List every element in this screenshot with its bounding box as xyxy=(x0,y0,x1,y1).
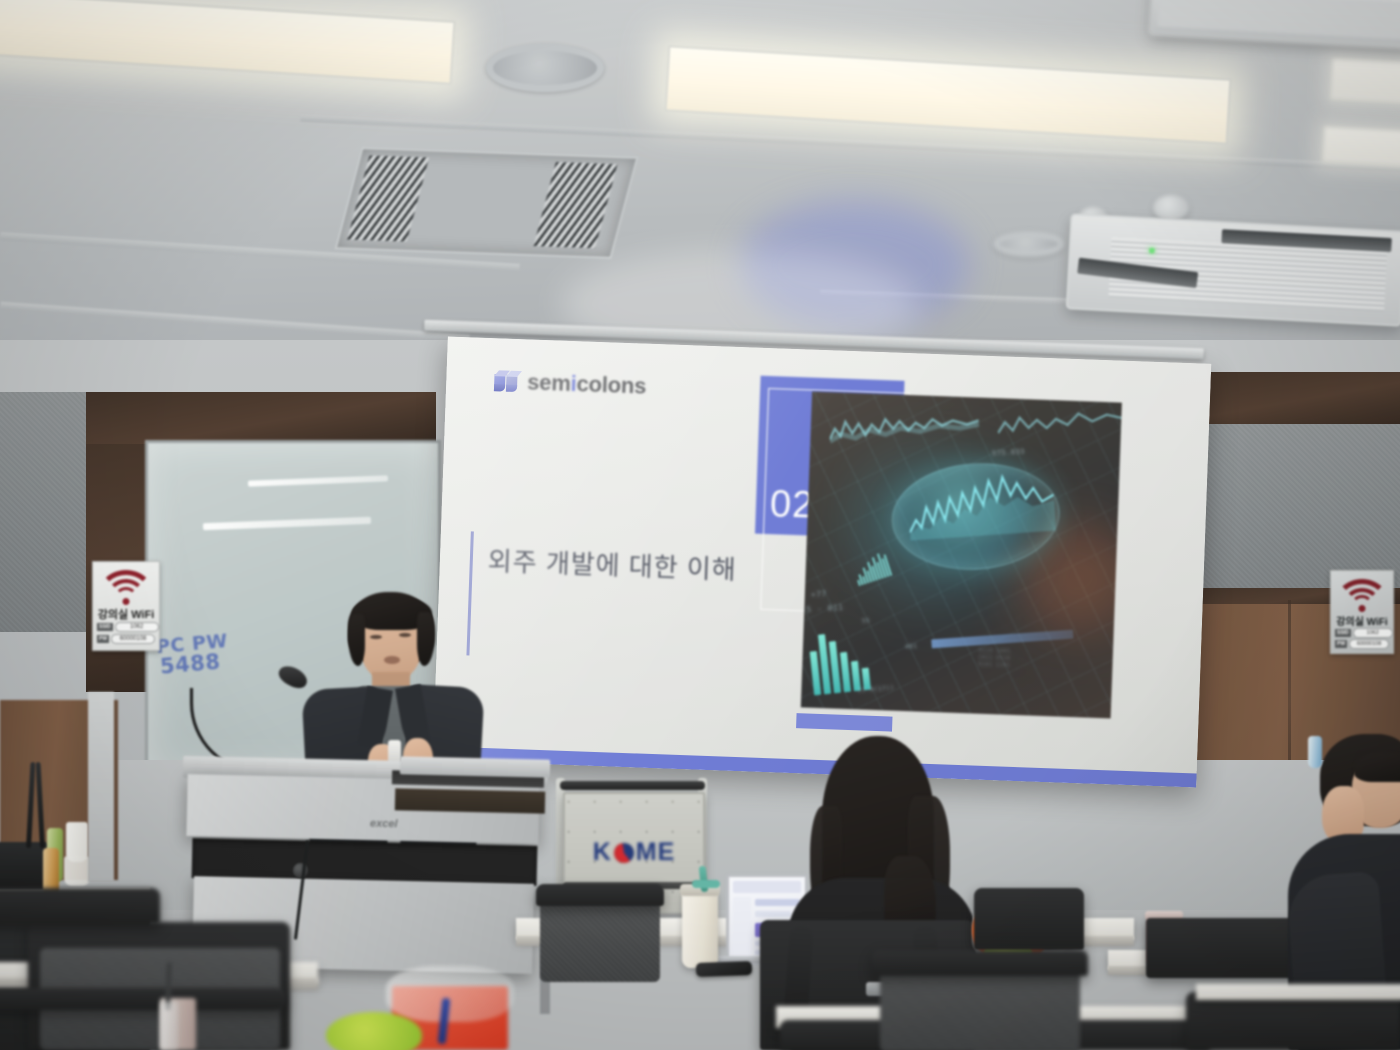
presenter-mouth xyxy=(384,656,400,664)
wifi-sign-right-row-ssid: SSID 1062 xyxy=(1335,628,1393,638)
presenter-sideburn-right xyxy=(417,612,435,666)
presenter-eye-left xyxy=(370,635,382,639)
slide-projection-sheen xyxy=(433,336,1212,787)
sanitizer-bottle xyxy=(1308,736,1322,768)
smartphone xyxy=(696,961,752,977)
laptop-sidebar xyxy=(733,897,751,957)
desk-foreground-far-right xyxy=(1196,984,1400,1000)
led-panel-light-3 xyxy=(1329,57,1400,107)
right-attendee-hair-front xyxy=(1354,752,1400,782)
taeguk-icon xyxy=(614,843,634,863)
wifi-ssid-value: 1062 xyxy=(115,622,159,632)
chair-foreground-left-arm xyxy=(0,988,286,1010)
led-panel-light-4 xyxy=(1321,125,1400,169)
wifi-ssid-tag: SSID xyxy=(97,623,113,631)
lectern-brand-label: excel xyxy=(370,818,398,831)
ceiling-speaker-2-icon xyxy=(993,231,1065,257)
left-wall-wood-header xyxy=(86,392,436,444)
wifi-ssid-value-right: 1062 xyxy=(1353,628,1393,638)
side-table-panel xyxy=(88,692,114,882)
wifi-pw-value: 60000108 xyxy=(111,634,155,644)
tumbler-straw-cap xyxy=(692,880,720,888)
wifi-sign-left-row-ssid: SSID 1062 xyxy=(97,622,159,632)
paper-cup-stack xyxy=(64,856,90,886)
presenter-eye-right xyxy=(399,633,411,637)
left-wall-acoustic-panel xyxy=(0,392,90,632)
clear-cup xyxy=(160,1002,178,1050)
cart-handle-bar xyxy=(560,781,705,790)
chair-foreground-far-right xyxy=(1186,992,1400,1050)
wifi-ssid-tag-right: SSID xyxy=(1335,629,1351,637)
ceiling-speaker-icon xyxy=(486,44,604,92)
wifi-sign-left: 강의실 WiFi SSID 1062 PW 60000108 xyxy=(92,561,160,651)
wifi-pw-tag: PW xyxy=(97,635,109,643)
wifi-pw-tag-right: PW xyxy=(1335,640,1347,648)
snack-bag-foreground xyxy=(326,1012,422,1050)
wifi-sign-left-row-pw: PW 60000108 xyxy=(97,634,155,644)
wifi-sign-right-title: 강의실 WiFi xyxy=(1331,613,1393,628)
lectern-rear-panel xyxy=(400,756,550,777)
wifi-router xyxy=(0,842,48,890)
kome-logo-text-left: K xyxy=(593,838,612,867)
ceiling-air-vent xyxy=(335,147,639,259)
projection-screen: semicolons 02 xyxy=(433,336,1212,787)
chair-middle-left-back xyxy=(536,884,664,906)
chair-foreground-far-left xyxy=(0,888,160,924)
presenter-sideburn-left xyxy=(348,614,365,666)
wifi-pw-value-right: 60000108 xyxy=(1349,639,1389,649)
chair-foreground-right-back xyxy=(872,950,1088,976)
wifi-icon-right xyxy=(1338,577,1386,611)
slide-canvas: semicolons 02 xyxy=(433,336,1212,787)
lecture-room-photo: PC PW 5488 강의실 WiFi SSID 1062 PW 6000010… xyxy=(0,0,1400,1050)
wifi-sign-right: 강의실 WiFi SSID 1062 PW 60000108 xyxy=(1330,570,1394,654)
wifi-sign-left-title: 강의실 WiFi xyxy=(93,606,159,622)
lectern-shelf-right-2 xyxy=(395,788,545,813)
shopping-bag-plastic-wrap xyxy=(386,966,514,1022)
kome-logo-text-right: ME xyxy=(636,838,676,867)
ac-cassette-unit xyxy=(1066,213,1400,326)
tumbler xyxy=(682,890,718,968)
kome-logo: K ME xyxy=(565,838,703,867)
wifi-icon xyxy=(101,568,151,604)
wifi-sign-right-row-pw: PW 60000108 xyxy=(1335,639,1389,649)
chair-middle-right xyxy=(974,888,1084,950)
